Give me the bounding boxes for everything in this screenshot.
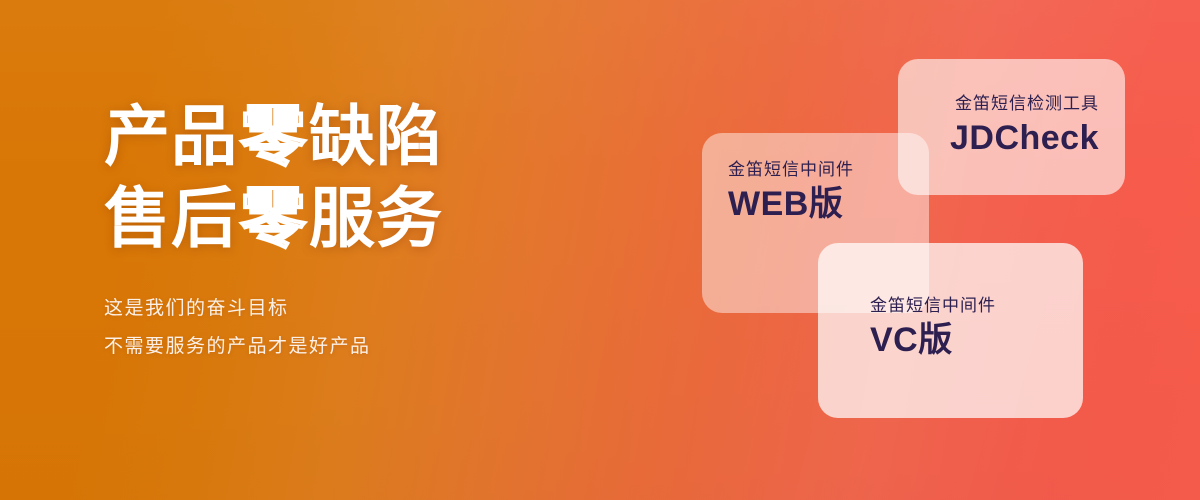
promo-banner: 产品 零 缺陷 售后 零 服务 这是我们的奋斗目标 不需要服务的产品才是好产品 … xyxy=(0,0,1200,500)
headline-line-2: 售后 零 服务 xyxy=(104,180,574,256)
headline-line2-part2: 服务 xyxy=(309,180,443,256)
headline-line2-zero-outlined: 零 xyxy=(240,180,307,256)
headline-copy-block: 产品 零 缺陷 售后 零 服务 这是我们的奋斗目标 不需要服务的产品才是好产品 xyxy=(104,98,574,366)
subtitle-line-1: 这是我们的奋斗目标 xyxy=(104,290,574,328)
headline-line1-part2: 缺陷 xyxy=(309,98,443,174)
product-card-jdcheck-subtitle: 金笛短信检测工具 xyxy=(955,89,1099,114)
product-card-vc[interactable]: 金笛短信中间件 VC版 xyxy=(818,243,1083,418)
subtitle-line-2: 不需要服务的产品才是好产品 xyxy=(104,328,574,366)
subtitle-block: 这是我们的奋斗目标 不需要服务的产品才是好产品 xyxy=(104,290,574,366)
product-card-web-title: WEB版 xyxy=(728,182,843,226)
headline-line1-part1: 产品 xyxy=(104,98,238,174)
product-card-jdcheck-title: JDCheck xyxy=(950,116,1099,160)
product-card-vc-subtitle: 金笛短信中间件 xyxy=(870,291,996,316)
headline-line2-part1: 售后 xyxy=(104,180,238,256)
headline-line1-zero-outlined: 零 xyxy=(240,98,307,174)
product-card-web-subtitle: 金笛短信中间件 xyxy=(728,155,854,180)
headline-line-1: 产品 零 缺陷 xyxy=(104,98,574,174)
product-card-vc-title: VC版 xyxy=(870,318,953,362)
product-card-jdcheck[interactable]: 金笛短信检测工具 JDCheck xyxy=(898,59,1125,195)
